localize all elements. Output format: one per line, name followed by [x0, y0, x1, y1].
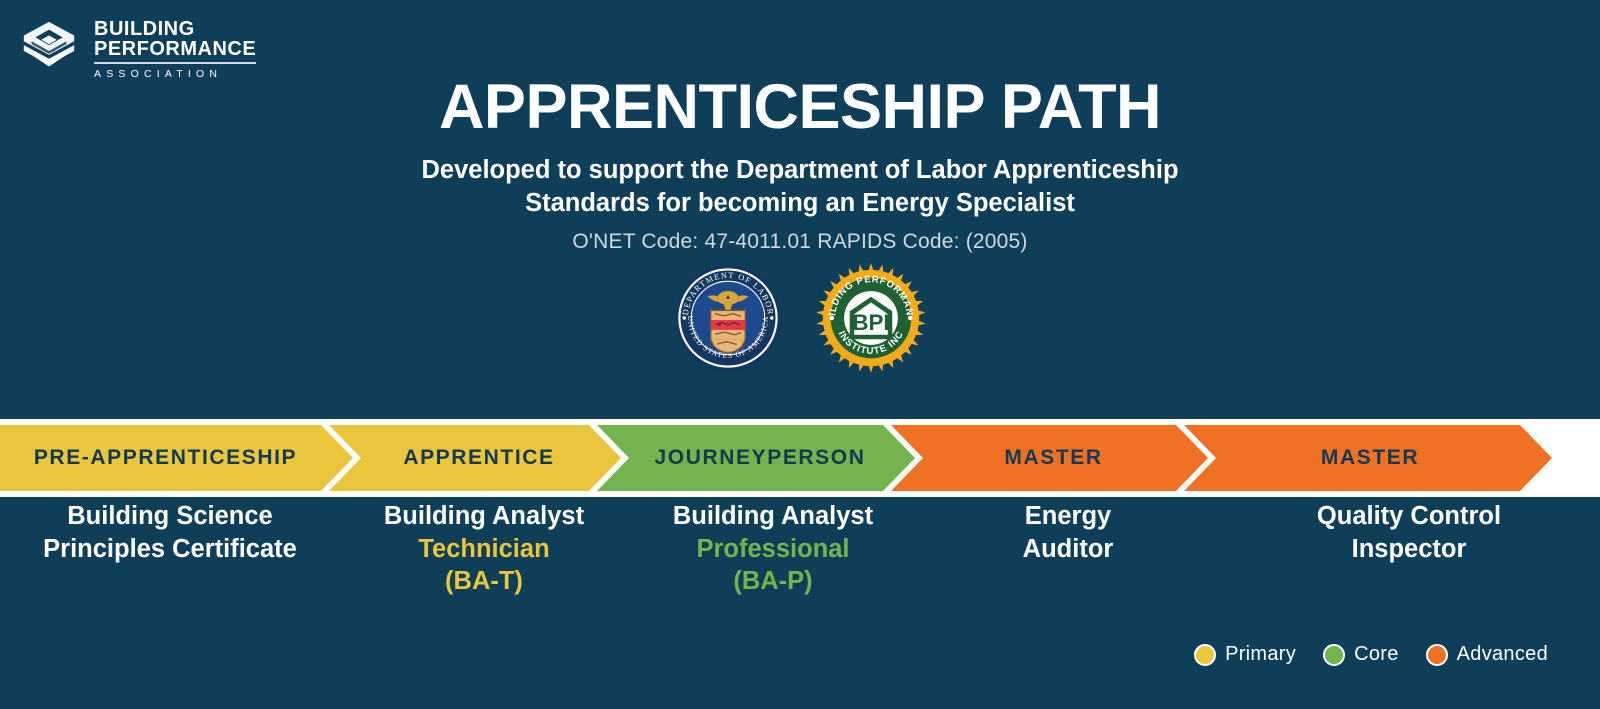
legend-item-core: Core	[1323, 643, 1399, 666]
credential-line-1: Energy	[1025, 502, 1111, 530]
brand-logo-text: BUILDING PERFORMANCE ASSOCIATION	[94, 19, 256, 80]
credential-line-1: Building Science	[67, 502, 272, 530]
subtitle-line-1: Developed to support the Department of L…	[0, 154, 1600, 187]
legend-dot-advanced-icon	[1426, 644, 1448, 666]
stage-label: PRE-APPRENTICESHIP	[34, 446, 319, 470]
credential-line-1: Building Analyst	[384, 502, 584, 530]
credential-pre-apprenticeship: Building Science Principles Certificate	[0, 500, 340, 598]
credential-apprentice: Building Analyst Technician (BA-T)	[340, 500, 628, 598]
seal-row: DEPARTMENT OF LABOR UNITED STATES OF AME…	[0, 262, 1600, 374]
bpi-seal: BUILDING PERFORMANCE INSTITUTE INC BPI	[815, 262, 927, 374]
credential-energy-auditor: Energy Auditor	[918, 500, 1218, 598]
stage-chevron-apprentice[interactable]: APPRENTICE	[329, 425, 621, 491]
stage-label: JOURNEYPERSON	[646, 446, 865, 470]
legend-dot-core-icon	[1323, 644, 1345, 666]
page-subtitle: Developed to support the Department of L…	[0, 154, 1600, 220]
stage-label: APPRENTICE	[395, 446, 554, 470]
apprenticeship-stage-banner: PRE-APPRENTICESHIP APPRENTICE JOURNEYPER…	[0, 419, 1600, 497]
subtitle-line-2: Standards for becoming an Energy Special…	[0, 187, 1600, 220]
stage-chevron-master-energy-auditor[interactable]: MASTER	[891, 425, 1208, 491]
credential-accent: Professional	[628, 533, 918, 566]
credential-line-1: Building Analyst	[673, 502, 873, 530]
bpa-hexagon-logo-icon	[18, 18, 80, 80]
stage-chevron-pre-apprenticeship[interactable]: PRE-APPRENTICESHIP	[0, 425, 353, 491]
credential-line-1: Quality Control	[1317, 502, 1501, 530]
header-block: APPRENTICESHIP PATH Developed to support…	[0, 74, 1600, 254]
onet-rapids-code: O'NET Code: 47-4011.01 RAPIDS Code: (200…	[0, 230, 1600, 254]
credential-code: (BA-T)	[340, 565, 628, 598]
legend: Primary Core Advanced	[1194, 643, 1548, 666]
stage-chevron-master-quality-control[interactable]: MASTER	[1184, 425, 1552, 491]
stage-chevron-journeyperson[interactable]: JOURNEYPERSON	[597, 425, 915, 491]
credential-accent: Technician	[340, 533, 628, 566]
brand-logo: BUILDING PERFORMANCE ASSOCIATION	[18, 18, 256, 80]
legend-label-core: Core	[1354, 643, 1399, 666]
page-title: APPRENTICESHIP PATH	[0, 74, 1600, 140]
credential-quality-control-inspector: Quality Control Inspector	[1218, 500, 1600, 598]
credential-line-2: Principles Certificate	[43, 535, 297, 563]
credential-row: Building Science Principles Certificate …	[0, 500, 1600, 598]
credential-line-2: Auditor	[1023, 535, 1114, 563]
logo-line-building: BUILDING	[94, 19, 256, 39]
legend-label-primary: Primary	[1225, 643, 1296, 666]
credential-journeyperson: Building Analyst Professional (BA-P)	[628, 500, 918, 598]
infographic-canvas: BUILDING PERFORMANCE ASSOCIATION APPRENT…	[0, 0, 1600, 709]
legend-item-advanced: Advanced	[1426, 643, 1548, 666]
legend-item-primary: Primary	[1194, 643, 1296, 666]
credential-line-2: Inspector	[1352, 535, 1467, 563]
logo-line-performance: PERFORMANCE	[94, 39, 256, 64]
legend-dot-primary-icon	[1194, 644, 1216, 666]
stage-label: MASTER	[1317, 446, 1419, 470]
credential-code: (BA-P)	[628, 565, 918, 598]
legend-label-advanced: Advanced	[1457, 643, 1548, 666]
stage-label: MASTER	[996, 446, 1102, 470]
stage-chevron-row: PRE-APPRENTICESHIP APPRENTICE JOURNEYPER…	[0, 425, 1600, 491]
bpi-monogram: BPI	[852, 310, 889, 335]
department-of-labor-seal: DEPARTMENT OF LABOR UNITED STATES OF AME…	[674, 264, 782, 372]
